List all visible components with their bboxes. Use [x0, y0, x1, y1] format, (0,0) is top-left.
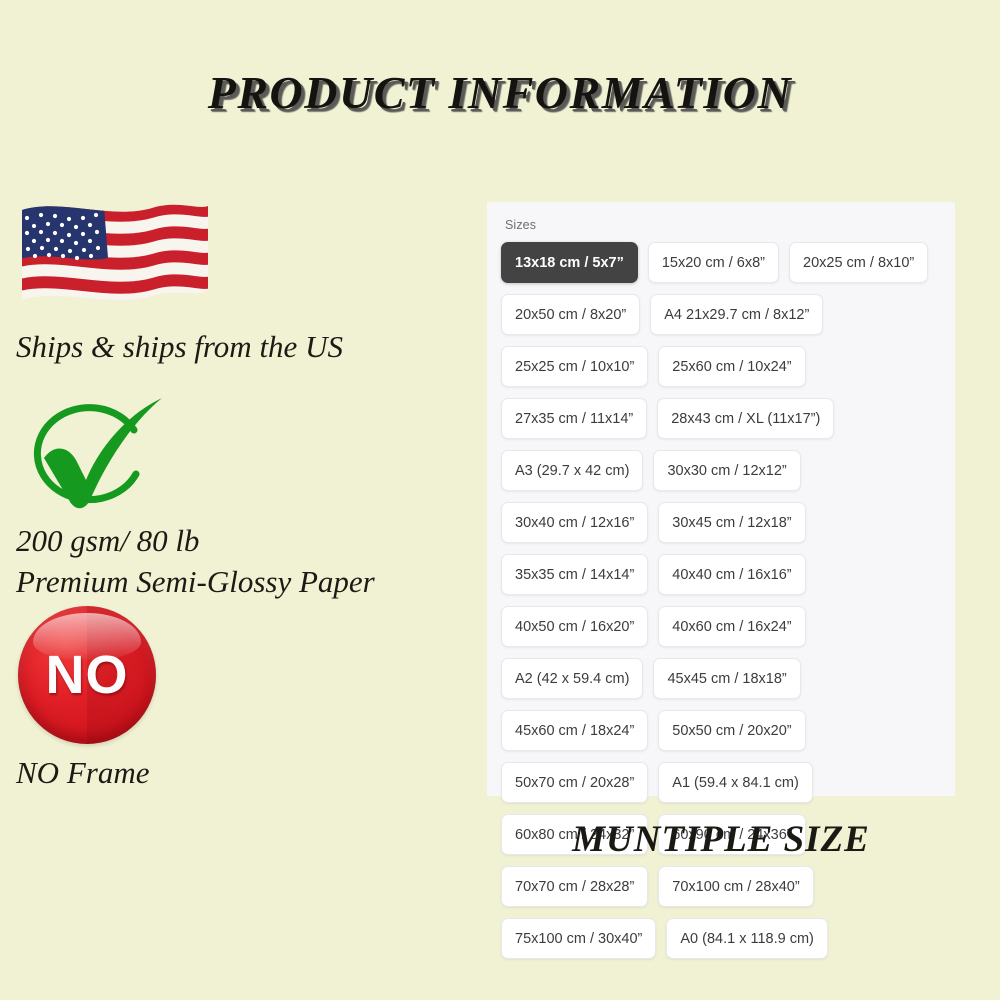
size-option-label: 45x60 cm / 18x24”: [515, 723, 634, 739]
size-option-chip[interactable]: A3 (29.7 x 42 cm): [501, 450, 643, 491]
size-option-chip[interactable]: 70x100 cm / 28x40”: [658, 866, 813, 907]
size-option-label: 27x35 cm / 11x14”: [515, 411, 633, 427]
sizes-panel: Sizes 13x18 cm / 5x7”15x20 cm / 6x8”20x2…: [487, 202, 955, 796]
size-option-label: 40x40 cm / 16x16”: [672, 567, 791, 583]
size-option-chip[interactable]: 40x40 cm / 16x16”: [658, 554, 805, 595]
sizes-label: Sizes: [505, 218, 941, 232]
multiple-size-caption: MUNTIPLE SIZE: [487, 818, 955, 861]
size-option-label: 20x25 cm / 8x10”: [803, 255, 914, 271]
size-option-chip[interactable]: 15x20 cm / 6x8”: [648, 242, 779, 283]
ships-from-us-caption: Ships & ships from the US: [16, 330, 343, 365]
size-option-label: A4 21x29.7 cm / 8x12”: [664, 307, 809, 323]
features-column: Ships & ships from the US 200 gsm/ 80 lb…: [14, 190, 474, 791]
size-option-chip[interactable]: 75x100 cm / 30x40”: [501, 918, 656, 959]
page-title: PRODUCT INFORMATION: [0, 66, 1000, 119]
size-option-chip[interactable]: 20x50 cm / 8x20”: [501, 294, 640, 335]
size-option-label: A3 (29.7 x 42 cm): [515, 463, 629, 479]
size-option-chip[interactable]: 30x40 cm / 12x16”: [501, 502, 648, 543]
size-option-label: 35x35 cm / 14x14”: [515, 567, 634, 583]
size-option-chip[interactable]: 25x25 cm / 10x10”: [501, 346, 648, 387]
size-option-label: 70x70 cm / 28x28”: [515, 879, 634, 895]
size-option-label: 30x45 cm / 12x18”: [672, 515, 791, 531]
size-option-chip[interactable]: 13x18 cm / 5x7”: [501, 242, 638, 283]
size-option-label: 40x50 cm / 16x20”: [515, 619, 634, 635]
green-check-icon: [16, 396, 168, 526]
size-option-chip[interactable]: 45x60 cm / 18x24”: [501, 710, 648, 751]
size-option-chip[interactable]: A4 21x29.7 cm / 8x12”: [650, 294, 823, 335]
size-option-chip[interactable]: 50x70 cm / 20x28”: [501, 762, 648, 803]
size-option-label: 70x100 cm / 28x40”: [672, 879, 799, 895]
size-option-chip[interactable]: 27x35 cm / 11x14”: [501, 398, 647, 439]
size-option-label: 28x43 cm / XL (11x17”): [671, 411, 820, 427]
no-badge-icon: NO: [18, 606, 156, 744]
size-option-label: 30x40 cm / 12x16”: [515, 515, 634, 531]
size-option-label: 25x60 cm / 10x24”: [672, 359, 791, 375]
size-option-label: 20x50 cm / 8x20”: [515, 307, 626, 323]
size-option-chip[interactable]: 70x70 cm / 28x28”: [501, 866, 648, 907]
size-option-label: A0 (84.1 x 118.9 cm): [680, 931, 814, 947]
size-option-label: 45x45 cm / 18x18”: [667, 671, 786, 687]
feature-no-frame: NO NO Frame: [14, 606, 474, 791]
size-option-chip[interactable]: A1 (59.4 x 84.1 cm): [658, 762, 813, 803]
paper-type-caption: Premium Semi-Glossy Paper: [16, 565, 375, 600]
paper-weight-caption: 200 gsm/ 80 lb: [16, 524, 375, 559]
size-option-chip[interactable]: 50x50 cm / 20x20”: [658, 710, 805, 751]
size-option-chip[interactable]: A0 (84.1 x 118.9 cm): [666, 918, 828, 959]
size-option-chip[interactable]: 20x25 cm / 8x10”: [789, 242, 928, 283]
size-option-label: 15x20 cm / 6x8”: [662, 255, 765, 271]
size-option-label: 50x50 cm / 20x20”: [672, 723, 791, 739]
size-option-chip[interactable]: 45x45 cm / 18x18”: [653, 658, 800, 699]
size-option-label: 30x30 cm / 12x12”: [667, 463, 786, 479]
size-option-chip[interactable]: 30x30 cm / 12x12”: [653, 450, 800, 491]
no-badge-label: NO: [18, 606, 156, 744]
size-option-label: 13x18 cm / 5x7”: [515, 255, 624, 271]
size-option-chip[interactable]: 28x43 cm / XL (11x17”): [657, 398, 834, 439]
size-option-chip[interactable]: A2 (42 x 59.4 cm): [501, 658, 643, 699]
feature-paper-quality: 200 gsm/ 80 lb Premium Semi-Glossy Paper: [14, 396, 474, 546]
feature-ships-from-us: Ships & ships from the US: [14, 190, 474, 340]
size-option-chip[interactable]: 30x45 cm / 12x18”: [658, 502, 805, 543]
size-option-label: 50x70 cm / 20x28”: [515, 775, 634, 791]
no-frame-caption: NO Frame: [16, 756, 149, 791]
size-option-label: A1 (59.4 x 84.1 cm): [672, 775, 799, 791]
size-option-label: 25x25 cm / 10x10”: [515, 359, 634, 375]
size-option-chip[interactable]: 40x60 cm / 16x24”: [658, 606, 805, 647]
size-option-label: 75x100 cm / 30x40”: [515, 931, 642, 947]
size-option-label: A2 (42 x 59.4 cm): [515, 671, 629, 687]
size-option-chip[interactable]: 25x60 cm / 10x24”: [658, 346, 805, 387]
us-flag-icon: [16, 194, 212, 318]
size-option-chip[interactable]: 35x35 cm / 14x14”: [501, 554, 648, 595]
size-option-chip[interactable]: 40x50 cm / 16x20”: [501, 606, 648, 647]
size-option-label: 40x60 cm / 16x24”: [672, 619, 791, 635]
